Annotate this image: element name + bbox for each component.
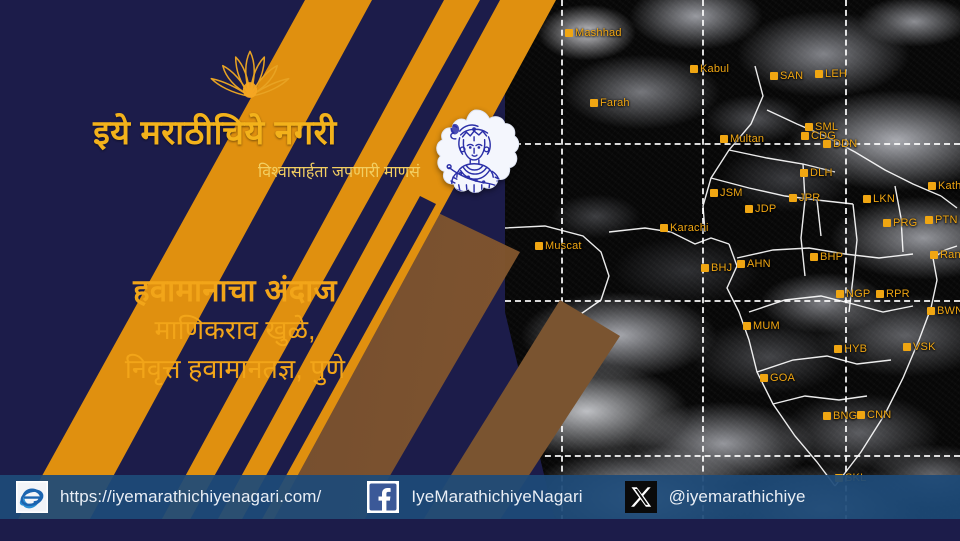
krishna-illustration-icon — [428, 108, 524, 208]
x-handle-text: @iyemarathichiye — [669, 487, 806, 507]
brand-title: इये मराठीचिये नगरी — [0, 108, 430, 154]
map-coastline-vectors — [505, 0, 960, 541]
map-gridline-lon-3 — [845, 0, 847, 541]
x-twitter-icon — [625, 481, 657, 513]
facebook-handle-text: IyeMarathichiyeNagari — [411, 487, 582, 507]
map-gridline-lon-2 — [702, 0, 704, 541]
internet-explorer-icon — [16, 481, 48, 513]
map-gridline-lat-3 — [505, 455, 960, 457]
headline-block: हवामानाचा अंदाज माणिकराव खुळे, निवृत्त ह… — [0, 272, 470, 389]
website-url-text: https://iyemarathichiyenagari.com/ — [60, 487, 321, 507]
poster-canvas: MashhadKabulFarahMultanSANLEHSMLCDGDDNDL… — [0, 0, 960, 541]
headline-line-1: हवामानाचा अंदाज — [0, 272, 470, 311]
footer-social-bar: https://iyemarathichiyenagari.com/ IyeMa… — [0, 475, 960, 519]
headline-line-2: माणिकराव खुळे, — [0, 311, 470, 350]
brand-tagline: विश्वासार्हता जपणारी माणसं — [0, 160, 442, 182]
lotus-icon — [207, 44, 293, 106]
map-gridline-lon-1 — [561, 0, 563, 541]
footer-bottom-strip — [0, 519, 960, 541]
map-gridline-lat-2 — [505, 300, 960, 302]
footer-facebook-link[interactable]: IyeMarathichiyeNagari — [321, 475, 582, 519]
footer-website-link[interactable]: https://iyemarathichiyenagari.com/ — [0, 475, 321, 519]
footer-x-link[interactable]: @iyemarathichiye — [583, 475, 806, 519]
headline-line-3: निवृत्त हवामानतज्ञ, पुणे — [0, 350, 470, 389]
facebook-icon — [367, 481, 399, 513]
satellite-map-panel: MashhadKabulFarahMultanSANLEHSMLCDGDDNDL… — [505, 0, 960, 541]
map-gridline-lat-1 — [505, 143, 960, 145]
